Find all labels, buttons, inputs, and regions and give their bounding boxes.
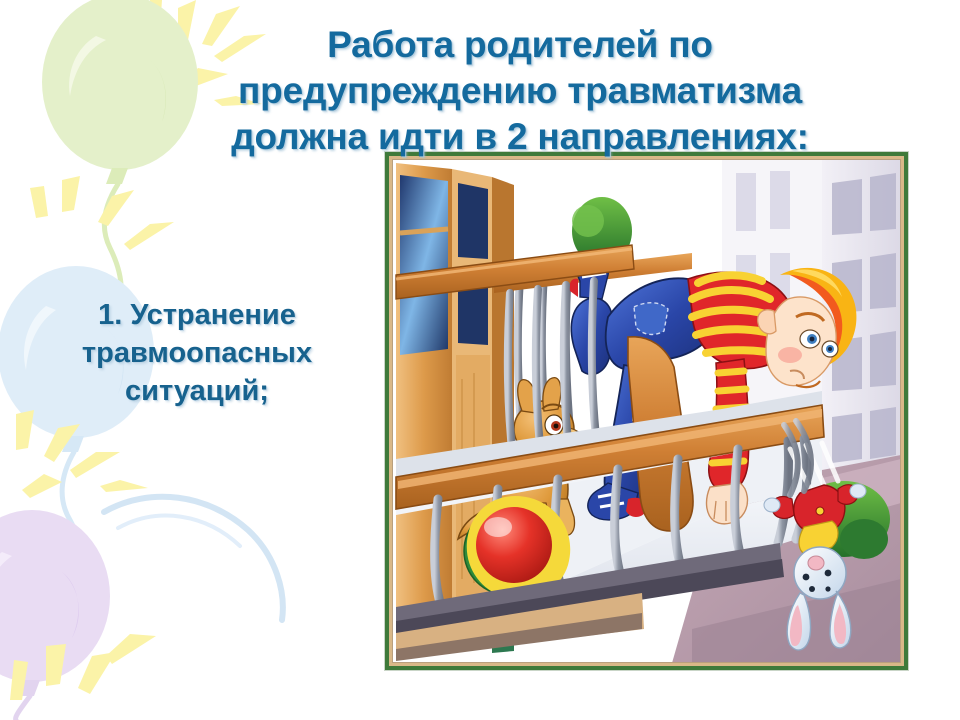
title-line-1: Работа родителей по	[120, 22, 920, 68]
illustration-frame	[385, 152, 908, 670]
balcony-danger-scene	[392, 159, 901, 663]
arc-swirl-icon	[104, 497, 283, 620]
title-line-2: предупреждению травматизма	[120, 68, 920, 114]
balloon-purple-icon	[0, 510, 110, 720]
slide-canvas: Работа родителей по предупреждению травм…	[0, 0, 960, 720]
body-line-2: травмоопасных	[28, 334, 366, 372]
sunburst-rays-icon	[30, 176, 174, 250]
body-line-1: 1. Устранение	[28, 296, 366, 334]
page-title: Работа родителей по предупреждению травм…	[120, 22, 920, 160]
body-line-3: ситуаций;	[28, 372, 366, 410]
title-line-3: должна идти в 2 направлениях:	[120, 114, 920, 160]
sunburst-rays-icon	[16, 410, 148, 498]
illustration-image	[392, 159, 901, 663]
body-text-block: 1. Устранение травмоопасных ситуаций;	[28, 296, 366, 410]
sunburst-rays-icon	[10, 634, 156, 700]
